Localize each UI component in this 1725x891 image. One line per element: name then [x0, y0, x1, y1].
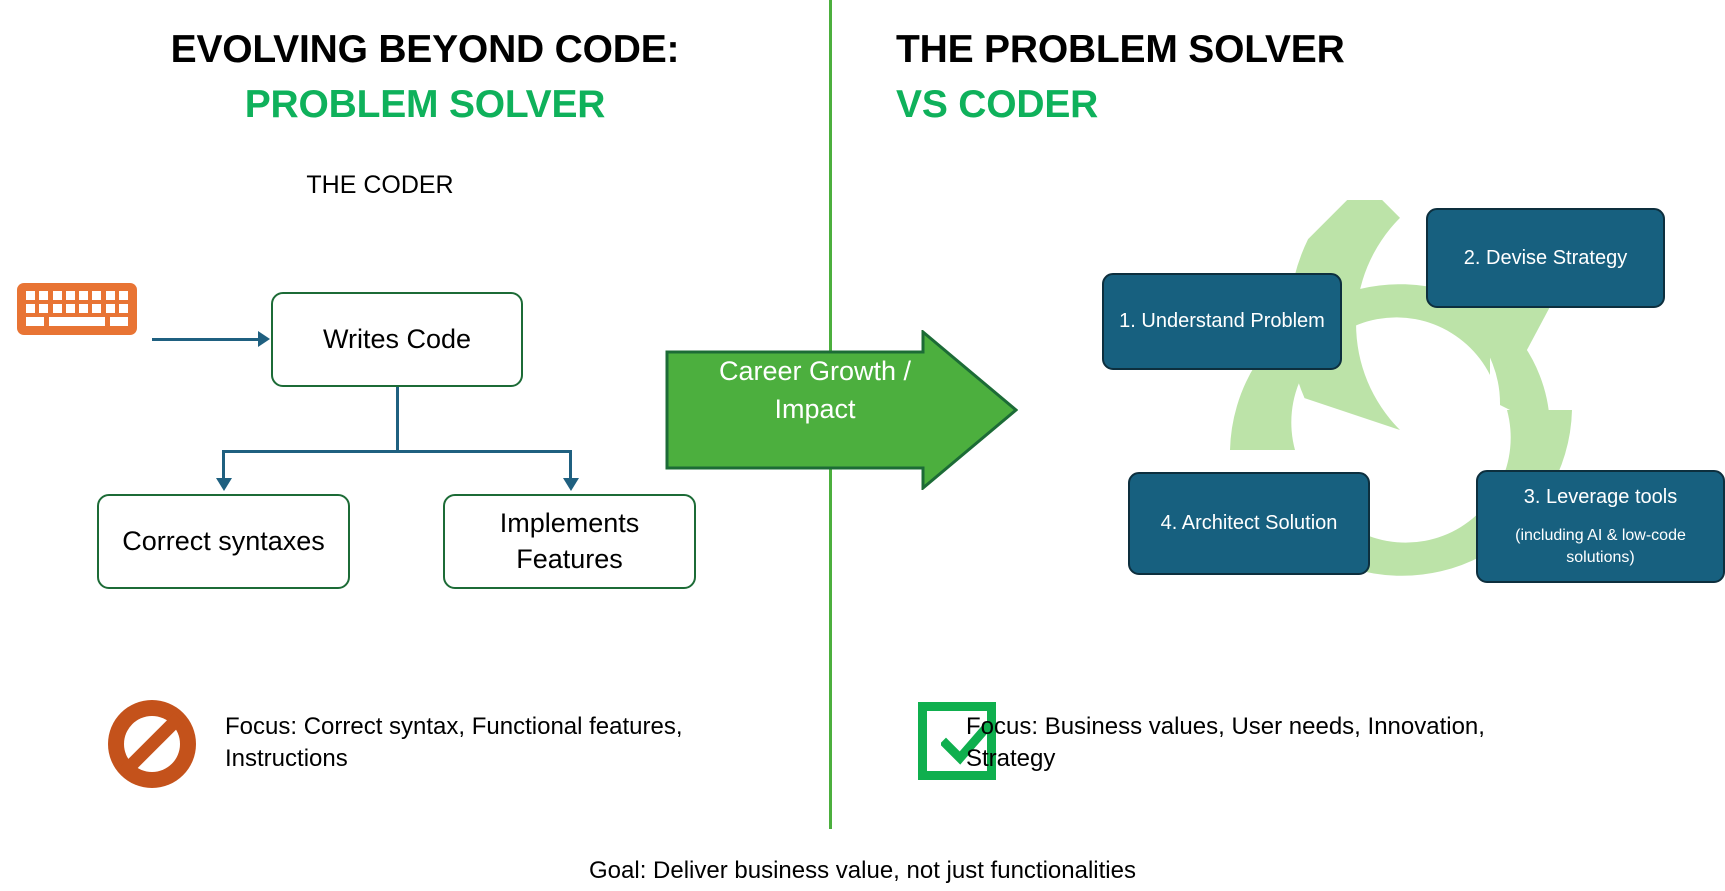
career-growth-label-line2: Impact — [680, 390, 950, 428]
right-title-line2: VS CODER — [896, 77, 1596, 132]
right-legend-text: Focus: Business values, User needs, Inno… — [966, 711, 1486, 775]
right-panel-title: THE PROBLEM SOLVER VS CODER — [896, 22, 1596, 133]
keyboard-icon — [17, 283, 137, 335]
right-title-line1: THE PROBLEM SOLVER — [896, 22, 1596, 77]
cycle-step-1-label: 1. Understand Problem — [1119, 308, 1325, 335]
arrowhead-to-implements-features-icon — [563, 478, 579, 491]
arrowhead-to-correct-syntaxes-icon — [216, 478, 232, 491]
connector-split-bar — [222, 450, 572, 453]
infographic-canvas: EVOLVING BEYOND CODE: PROBLEM SOLVER THE… — [0, 0, 1725, 891]
left-legend-text: Focus: Correct syntax, Functional featur… — [225, 711, 745, 775]
left-panel-title: EVOLVING BEYOND CODE: PROBLEM SOLVER — [60, 22, 790, 133]
connector-keyboard-to-writes-code — [152, 338, 265, 341]
career-growth-label: Career Growth / Impact — [680, 352, 950, 429]
arrowhead-to-writes-code-icon — [258, 331, 270, 347]
cycle-step-2-label: 2. Devise Strategy — [1464, 245, 1627, 272]
left-panel-subtitle: THE CODER — [180, 171, 580, 200]
cycle-step-4-architect-solution[interactable]: 4. Architect Solution — [1128, 472, 1370, 575]
flow-box-implements-features-label: Implements Features — [445, 506, 694, 577]
keyboard-row-1 — [26, 291, 128, 300]
keyboard-spacebar — [49, 317, 105, 326]
cycle-step-3-sublabel: (including AI & low-code solutions) — [1488, 525, 1713, 568]
left-title-line1: EVOLVING BEYOND CODE: — [60, 22, 790, 77]
cycle-step-3-leverage-tools[interactable]: 3. Leverage tools (including AI & low-co… — [1476, 470, 1725, 583]
flow-box-correct-syntaxes[interactable]: Correct syntaxes — [97, 494, 350, 589]
flow-box-writes-code[interactable]: Writes Code — [271, 292, 523, 387]
cycle-step-1-understand-problem[interactable]: 1. Understand Problem — [1102, 273, 1342, 370]
flow-box-writes-code-label: Writes Code — [323, 322, 471, 358]
keyboard-row-3 — [26, 317, 128, 326]
cycle-step-2-devise-strategy[interactable]: 2. Devise Strategy — [1426, 208, 1665, 308]
flow-box-correct-syntaxes-label: Correct syntaxes — [122, 524, 325, 560]
prohibition-icon — [108, 700, 196, 788]
career-growth-label-line1: Career Growth / — [680, 352, 950, 390]
cycle-step-4-label: 4. Architect Solution — [1161, 510, 1338, 537]
keyboard-row-2 — [26, 304, 128, 313]
left-title-line2: PROBLEM SOLVER — [60, 77, 790, 132]
flow-box-implements-features[interactable]: Implements Features — [443, 494, 696, 589]
connector-writes-code-down — [396, 387, 399, 453]
cycle-step-3-label: 3. Leverage tools — [1524, 484, 1677, 511]
footer-goal-text: Goal: Deliver business value, not just f… — [0, 857, 1725, 885]
